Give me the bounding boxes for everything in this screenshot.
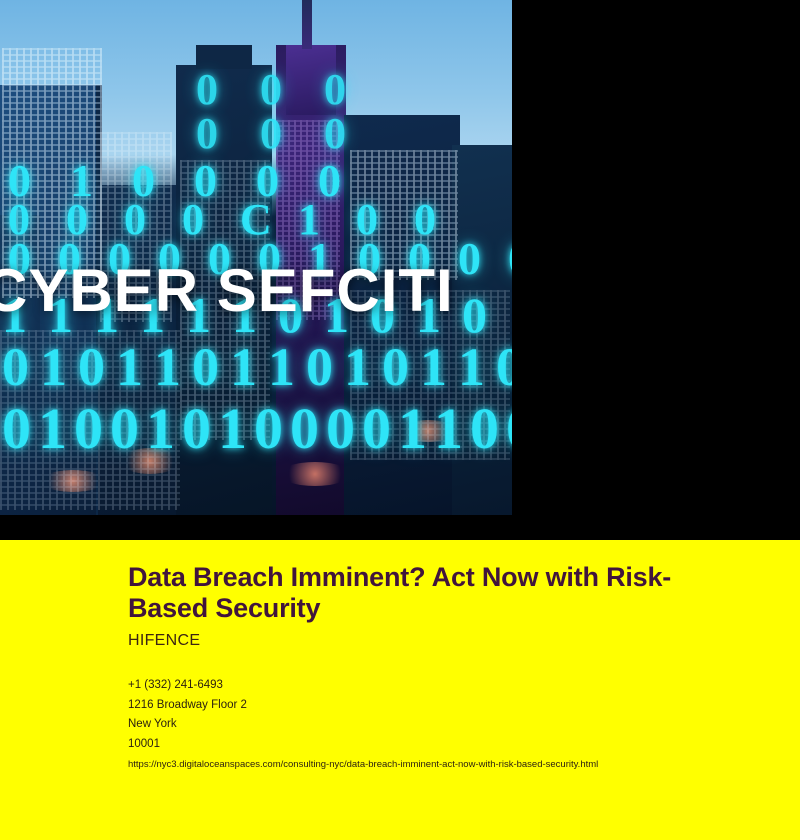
info-panel: Data Breach Imminent? Act Now with Risk-…	[0, 540, 800, 840]
hero-image: 0000000100000000C10000000010000111111010…	[0, 0, 512, 515]
contact-address: 1216 Broadway Floor 2	[128, 696, 247, 716]
contact-city: New York	[128, 715, 247, 735]
street-glow-3	[400, 420, 456, 442]
hero-overlay-text: CYBER SEFCITI	[0, 256, 512, 325]
building-purple-tower-spire	[302, 0, 312, 49]
brand-name: HIFENCE	[128, 632, 200, 650]
street-glow-2	[280, 462, 350, 486]
hero-area: 0000000100000000C10000000010000111111010…	[0, 0, 800, 540]
contact-phone: +1 (332) 241-6493	[128, 676, 247, 696]
contact-postal-code: 10001	[128, 735, 247, 755]
building-purple-tower-crown	[286, 45, 336, 115]
page-title: Data Breach Imminent? Act Now with Risk-…	[128, 562, 688, 625]
contact-block: +1 (332) 241-6493 1216 Broadway Floor 2 …	[128, 676, 247, 754]
source-url: https://nyc3.digitaloceanspaces.com/cons…	[128, 759, 598, 770]
street-glow-1	[120, 448, 180, 474]
street-glow-4	[40, 470, 106, 492]
building-center-cap	[196, 45, 252, 69]
